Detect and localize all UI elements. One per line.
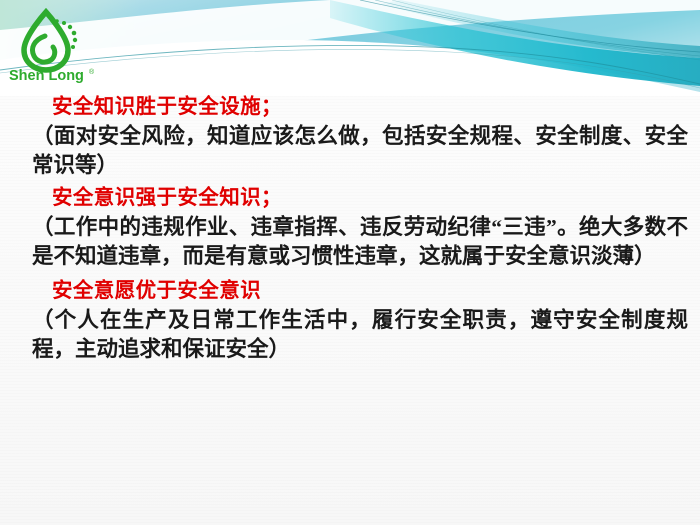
content-block-2: 安全意识强于安全知识； （工作中的违规作业、违章指挥、违反劳动纪律“三违”。绝大… [0, 185, 700, 271]
content-block-1: 安全知识胜于安全设施； （面对安全风险，知道应该怎么做，包括安全规程、安全制度、… [0, 94, 700, 180]
block-3-body: （个人在生产及日常工作生活中，履行安全职责，遵守安全制度规程，主动追求和保证安全… [0, 306, 700, 364]
content-block-3: 安全意愿优于安全意识 （个人在生产及日常工作生活中，履行安全职责，遵守安全制度规… [0, 278, 700, 364]
block-1-body: （面对安全风险，知道应该怎么做，包括安全规程、安全制度、安全常识等） [0, 122, 700, 180]
block-3-heading: 安全意愿优于安全意识 [0, 278, 700, 305]
shen-long-logo: Shen Long ® [4, 6, 106, 86]
registered-mark-icon: ® [89, 68, 95, 76]
slide-content: 安全知识胜于安全设施； （面对安全风险，知道应该怎么做，包括安全规程、安全制度、… [0, 94, 700, 364]
block-2-heading: 安全意识强于安全知识； [0, 185, 700, 212]
block-1-heading: 安全知识胜于安全设施； [0, 94, 700, 121]
block-2-body: （工作中的违规作业、违章指挥、违反劳动纪律“三违”。绝大多数不是不知道违章，而是… [0, 213, 700, 271]
presentation-slide: Shen Long ® 安全知识胜于安全设施； （面对安全风险，知道应该怎么做，… [0, 0, 700, 525]
logo-brand-text: Shen Long [9, 68, 84, 84]
